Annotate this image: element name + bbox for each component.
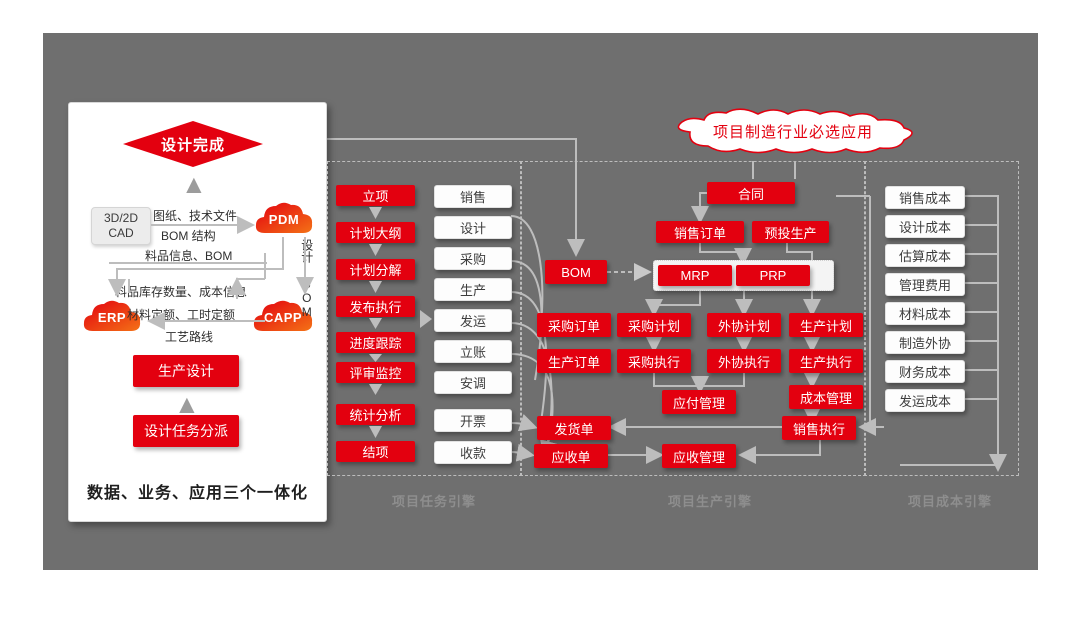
sales-order-node[interactable]: 销售订单 (656, 221, 744, 243)
receivable-mgmt-node[interactable]: 应收管理 (662, 444, 736, 468)
production-engine-label: 项目生产引擎 (668, 491, 752, 510)
receivable-note-node[interactable]: 应收单 (534, 444, 608, 468)
task-step-fabuzhixing[interactable]: 发布执行 (336, 296, 415, 317)
outsource-exec-node[interactable]: 外协执行 (707, 349, 781, 373)
sales-exec-node[interactable]: 销售执行 (782, 416, 856, 440)
cost-mgmt-node[interactable]: 成本管理 (789, 385, 863, 409)
task-step-jihuadagang[interactable]: 计划大纲 (336, 222, 415, 243)
purchase-plan-node[interactable]: 采购计划 (617, 313, 691, 337)
cad-line-1: 3D/2D (104, 211, 138, 226)
task-step-pingshenjiankong[interactable]: 评审监控 (336, 362, 415, 383)
mrp-node[interactable]: MRP (658, 265, 732, 286)
task-engine-label: 项目任务引擎 (392, 491, 476, 510)
production-order-node[interactable]: 生产订单 (537, 349, 611, 373)
preproduction-node[interactable]: 预投生产 (752, 221, 829, 243)
cost-item-finance[interactable]: 财务成本 (885, 360, 965, 383)
task-step-jindugenzong[interactable]: 进度跟踪 (336, 332, 415, 353)
chevron-up-icon-top: ▲ (181, 171, 207, 197)
pdm-label: PDM (269, 212, 299, 227)
task-step-jiexiang[interactable]: 结项 (336, 441, 415, 462)
cost-item-shipping[interactable]: 发运成本 (885, 389, 965, 412)
delivery-note-node[interactable]: 发货单 (537, 416, 611, 440)
cost-item-estimate[interactable]: 估算成本 (885, 244, 965, 267)
contract-node[interactable]: 合同 (707, 182, 795, 204)
erp-label: ERP (98, 310, 126, 325)
caption-design-bom: 设计 BOM (299, 239, 313, 319)
task-white-lizhang[interactable]: 立账 (434, 340, 512, 363)
task-white-caigou[interactable]: 采购 (434, 247, 512, 270)
production-design-label: 生产设计 (158, 361, 214, 381)
cost-engine-label: 项目成本引擎 (908, 491, 992, 510)
bom-node[interactable]: BOM (545, 260, 607, 284)
task-step-lixiang[interactable]: 立项 (336, 185, 415, 206)
task-white-kaipiao[interactable]: 开票 (434, 409, 512, 432)
capp-label: CAPP (264, 310, 302, 325)
mrp-prp-group: MRP PRP (653, 260, 834, 291)
caption-item-bom: 料品信息、BOM (145, 247, 232, 264)
cost-item-material[interactable]: 材料成本 (885, 302, 965, 325)
design-task-assign-button[interactable]: 设计任务分派 (133, 415, 239, 447)
purchase-order-node[interactable]: 采购订单 (537, 313, 611, 337)
production-exec-node[interactable]: 生产执行 (789, 349, 863, 373)
task-white-sheji[interactable]: 设计 (434, 216, 512, 239)
cad-line-2: CAD (108, 226, 133, 241)
caption-quota: 材料定额、工时定额 (127, 306, 235, 323)
prp-node[interactable]: PRP (736, 265, 810, 286)
chevron-up-icon-bottom: ▲ (174, 391, 200, 417)
production-design-button[interactable]: 生产设计 (133, 355, 239, 387)
task-white-shoukuan[interactable]: 收款 (434, 441, 512, 464)
banner-label: 项目制造行业必选应用 (664, 108, 922, 154)
caption-routing: 工艺路线 (165, 328, 213, 345)
outsource-plan-node[interactable]: 外协计划 (707, 313, 781, 337)
caption-bom-structure: BOM 结构 (161, 227, 216, 244)
task-white-shengchan[interactable]: 生产 (434, 278, 512, 301)
task-step-tongjifenxi[interactable]: 统计分析 (336, 404, 415, 425)
production-plan-node[interactable]: 生产计划 (789, 313, 863, 337)
pdm-cloud: PDM (253, 201, 315, 237)
task-white-xiaoshou[interactable]: 销售 (434, 185, 512, 208)
cost-item-admin[interactable]: 管理费用 (885, 273, 965, 296)
design-complete-diamond: 设计完成 (123, 121, 263, 167)
design-complete-label: 设计完成 (161, 134, 225, 155)
design-task-assign-label: 设计任务分派 (144, 421, 228, 441)
diagram-canvas: 设计完成 ▲ 3D/2D CAD PDM ERP (0, 0, 1080, 617)
caption-drawings: 图纸、技术文件 (153, 207, 237, 224)
cost-item-sales[interactable]: 销售成本 (885, 186, 965, 209)
cad-box: 3D/2D CAD (91, 207, 151, 245)
caption-stock-cost: 料品库存数量、成本信息 (115, 283, 247, 300)
integration-card: 设计完成 ▲ 3D/2D CAD PDM ERP (68, 102, 327, 522)
payable-mgmt-node[interactable]: 应付管理 (662, 390, 736, 414)
cost-item-outsource[interactable]: 制造外协 (885, 331, 965, 354)
task-white-fayun[interactable]: 发运 (434, 309, 512, 332)
card-footer-text: 数据、业务、应用三个一体化 (69, 479, 326, 503)
purchase-exec-node[interactable]: 采购执行 (617, 349, 691, 373)
cost-item-design[interactable]: 设计成本 (885, 215, 965, 238)
task-step-jihuafenjie[interactable]: 计划分解 (336, 259, 415, 280)
task-white-antiao[interactable]: 安调 (434, 371, 512, 394)
banner-cloud: 项目制造行业必选应用 (664, 108, 922, 154)
